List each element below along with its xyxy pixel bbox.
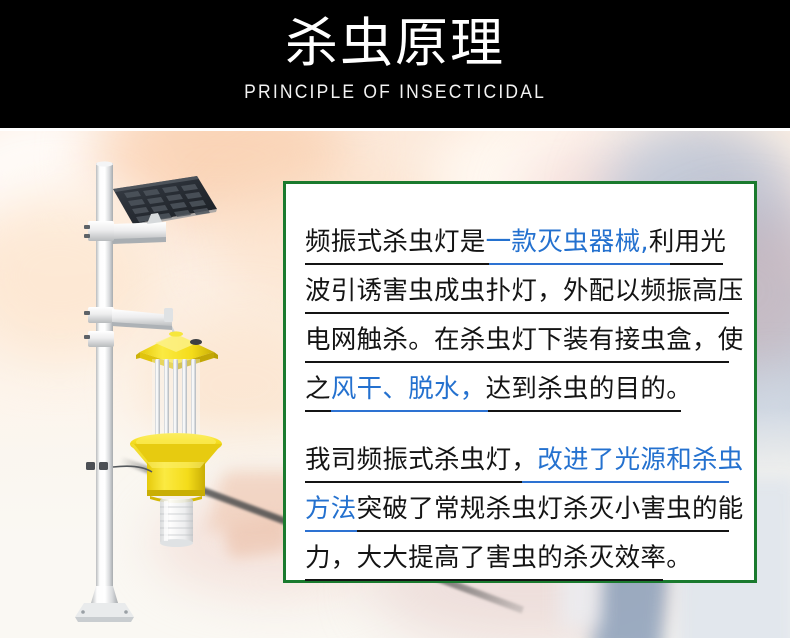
text-line: 我司频振式杀虫灯，改进了光源和杀虫 <box>305 436 732 485</box>
text-segment: 突破了常规杀虫灯杀灭小害虫的能 <box>357 494 744 524</box>
text-segment: 达到杀虫的目的。 <box>486 374 692 404</box>
text-line: 频振式杀虫灯是一款灭虫器械,利用光 <box>305 218 732 267</box>
base-plate <box>75 603 134 617</box>
page-title: 杀虫原理 <box>285 17 505 70</box>
paragraph-2: 我司频振式杀虫灯，改进了光源和杀虫 方法突破了常规杀虫灯杀灭小害虫的能 力，大大… <box>305 436 732 583</box>
text-segment: 力，大大提高了害虫的杀灭效率。 <box>305 543 692 573</box>
text-segment: 我司频振式杀虫灯， <box>305 445 537 475</box>
text-segment: 频振式杀虫灯是 <box>305 227 486 257</box>
text-segment: 利用光 <box>649 227 726 257</box>
text-line: 力，大大提高了害虫的杀灭效率。 <box>305 534 732 583</box>
content-card-body: 频振式杀虫灯是一款灭虫器械,利用光 波引诱害虫成虫扑灯，外配以频振高压 电网触杀… <box>286 184 754 583</box>
page-header: 杀虫原理 PRINCIPLE OF INSECTICIDAL <box>0 0 790 128</box>
pole-clamp <box>88 307 114 323</box>
pole-clamp <box>88 331 114 347</box>
text-segment: 之 <box>305 374 331 404</box>
text-line: 波引诱害虫成虫扑灯，外配以频振高压 <box>305 267 732 316</box>
pole-clamp <box>88 221 114 241</box>
text-line: 电网触杀。在杀虫灯下装有接虫盒，使 <box>305 316 732 365</box>
product-image-solar-insecticidal-lamp <box>0 131 300 638</box>
page-root: 杀虫原理 PRINCIPLE OF INSECTICIDAL <box>0 0 790 638</box>
page-subtitle: PRINCIPLE OF INSECTICIDAL <box>244 82 546 104</box>
content-card: 频振式杀虫灯是一款灭虫器械,利用光 波引诱害虫成虫扑灯，外配以频振高压 电网触杀… <box>283 181 757 583</box>
text-segment-highlight: 风干、脱水， <box>331 374 486 404</box>
text-line: 之风干、脱水，达到杀虫的目的。 <box>305 365 732 414</box>
text-segment-highlight: 方法 <box>305 494 357 524</box>
text-segment: 电网触杀。在杀虫灯下装有接虫盒，使 <box>305 325 744 355</box>
power-cable <box>113 466 152 472</box>
text-line: 方法突破了常规杀虫灯杀灭小害虫的能 <box>305 485 732 534</box>
text-segment-highlight: 改进了光源和杀虫 <box>537 445 743 475</box>
paragraph-1: 频振式杀虫灯是一款灭虫器械,利用光 波引诱害虫成虫扑灯，外配以频振高压 电网触杀… <box>305 218 732 414</box>
text-segment: 波引诱害虫成虫扑灯，外配以频振高压 <box>305 276 744 306</box>
cable-clamp <box>99 462 108 470</box>
cable-clamp <box>86 462 95 470</box>
text-segment-highlight: 一款灭虫器械, <box>486 227 649 257</box>
